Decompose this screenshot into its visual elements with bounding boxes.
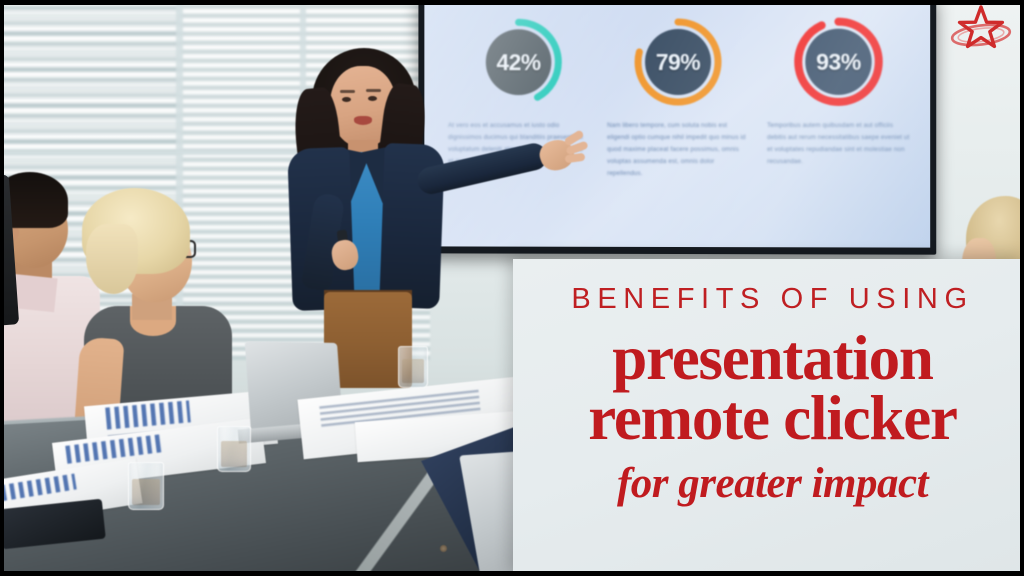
water-glass <box>128 462 164 510</box>
water-glass-contents <box>402 359 424 383</box>
donut-blurb-93: Temporibus autem quibusdam et aut offici… <box>763 120 914 169</box>
presenter-eye <box>368 96 377 101</box>
donut-chart-item: 93% Temporibus autem quibusdam et aut of… <box>763 13 914 180</box>
presenter-woman <box>268 44 518 384</box>
presenter-eye <box>342 97 351 102</box>
water-glass <box>398 346 428 388</box>
title-overlay-card: BENEFITS OF USING presentation remote cl… <box>513 259 1024 576</box>
star-icon <box>944 2 1018 50</box>
attendee-woman-hair-side <box>86 224 138 294</box>
presenter-brow <box>340 90 355 93</box>
brand-logo <box>944 2 1018 50</box>
donut-value-79: 79% <box>630 14 726 110</box>
water-glass-contents <box>132 479 160 505</box>
letterbox-left <box>0 0 4 576</box>
water-glass <box>217 426 251 472</box>
title-kicker: BENEFITS OF USING <box>535 285 1010 314</box>
donut-value-93: 93% <box>790 14 887 110</box>
letterbox-top <box>0 0 1024 5</box>
donut-chart-79: 79% <box>603 14 753 110</box>
table-fastener <box>440 545 447 552</box>
water-glass-contents <box>221 441 247 467</box>
letterbox-right <box>1020 0 1024 576</box>
donut-blurb-79: Nam libero tempore, cum soluta nobis est… <box>603 120 753 181</box>
letterbox-bottom <box>0 571 1024 576</box>
donut-chart-93: 93% <box>763 13 914 110</box>
title-text-block: BENEFITS OF USING presentation remote cl… <box>535 285 1010 505</box>
presenter-brow <box>366 89 381 92</box>
title-subline: for greater impact <box>535 462 1010 505</box>
title-headline-line2: remote clicker <box>535 390 1010 448</box>
donut-chart-item: 79% Nam libero tempore, cum soluta nobis… <box>603 14 753 181</box>
presenter-mouth <box>354 116 372 125</box>
screenshot-stage: 42% At vero eos et accusamus et iusto od… <box>0 0 1024 576</box>
title-headline: presentation remote clicker <box>535 330 1010 448</box>
